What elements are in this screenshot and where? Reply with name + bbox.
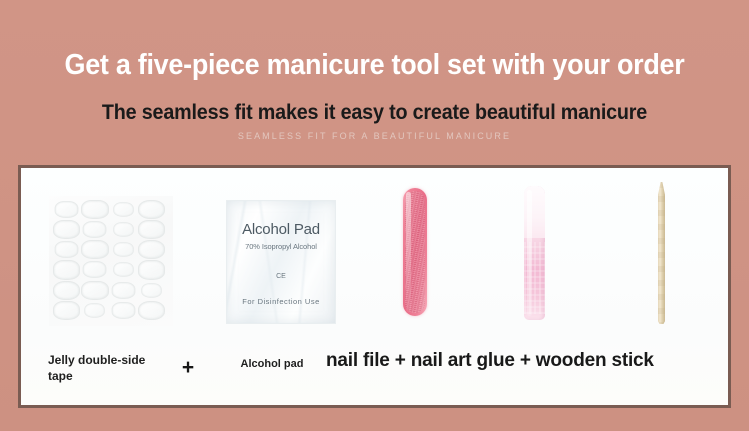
tape-tab xyxy=(141,283,162,298)
product-caption-row: Jelly double-side tape + Alcohol pad nai… xyxy=(21,344,728,405)
tape-tab xyxy=(138,260,165,279)
tape-tab xyxy=(113,202,134,217)
glue-highlight xyxy=(527,190,532,316)
tape-tab xyxy=(111,282,135,299)
plus-separator-icon: + xyxy=(173,356,203,380)
product-card: Alcohol Pad 70% Isopropyl Alcohol CE For… xyxy=(18,165,731,408)
caption-remaining-tools: nail file + nail art glue + wooden stick xyxy=(326,350,726,372)
page-subtitle: The seamless fit makes it easy to create… xyxy=(22,102,726,124)
alcohol-pad-package-subtitle: 70% Isopropyl Alcohol xyxy=(227,242,335,251)
product-image-row: Alcohol Pad 70% Isopropyl Alcohol CE For… xyxy=(21,168,728,343)
wooden-stick-grain xyxy=(658,182,665,324)
jelly-tape-grid xyxy=(53,200,165,320)
tape-tab xyxy=(111,302,135,319)
tape-tab xyxy=(138,301,165,320)
tape-tab xyxy=(138,220,165,239)
product-slot-wooden-stick xyxy=(596,168,728,343)
tape-tab xyxy=(53,301,80,320)
tape-tab xyxy=(53,281,80,300)
nail-file-image xyxy=(403,188,427,316)
alcohol-pad-package-footer: For Disinfection Use xyxy=(227,297,335,306)
nail-file-highlight xyxy=(406,192,411,312)
alcohol-pad-image: Alcohol Pad 70% Isopropyl Alcohol CE For… xyxy=(226,200,336,324)
page-micro-caption: SEAMLESS FIT FOR A BEAUTIFUL MANICURE xyxy=(0,131,749,141)
tape-tab xyxy=(113,263,134,278)
nail-art-glue-image xyxy=(524,186,545,320)
tape-tab xyxy=(85,303,106,318)
tape-tab xyxy=(138,200,165,219)
page-title: Get a five-piece manicure tool set with … xyxy=(26,50,723,80)
tape-tab xyxy=(138,240,165,259)
tape-tab xyxy=(53,260,80,279)
tape-tab xyxy=(113,222,134,237)
tape-tab xyxy=(83,221,107,238)
ce-mark-icon: CE xyxy=(227,273,335,280)
product-slot-nail-file xyxy=(356,168,476,343)
caption-jelly-tape: Jelly double-side tape xyxy=(48,352,168,384)
product-card-inner: Alcohol Pad 70% Isopropyl Alcohol CE For… xyxy=(21,168,728,405)
tape-tab xyxy=(81,281,108,300)
tape-tab xyxy=(83,262,107,279)
wooden-stick-image xyxy=(658,182,665,324)
headline-block: Get a five-piece manicure tool set with … xyxy=(0,0,749,160)
tape-tab xyxy=(53,220,80,239)
product-slot-tape xyxy=(31,168,206,343)
tape-tab xyxy=(81,240,108,259)
tape-tab xyxy=(81,200,108,219)
caption-alcohol-pad: Alcohol pad xyxy=(207,358,337,370)
tape-tab xyxy=(55,241,79,258)
alcohol-pad-package-title: Alcohol Pad xyxy=(227,221,335,238)
jelly-tape-sheet-image xyxy=(49,196,173,326)
promo-banner: Get a five-piece manicure tool set with … xyxy=(0,0,749,431)
tape-tab xyxy=(55,201,79,218)
product-slot-nail-art-glue xyxy=(476,168,596,343)
tape-tab xyxy=(113,243,134,258)
product-slot-alcohol-pad: Alcohol Pad 70% Isopropyl Alcohol CE For… xyxy=(206,168,356,343)
